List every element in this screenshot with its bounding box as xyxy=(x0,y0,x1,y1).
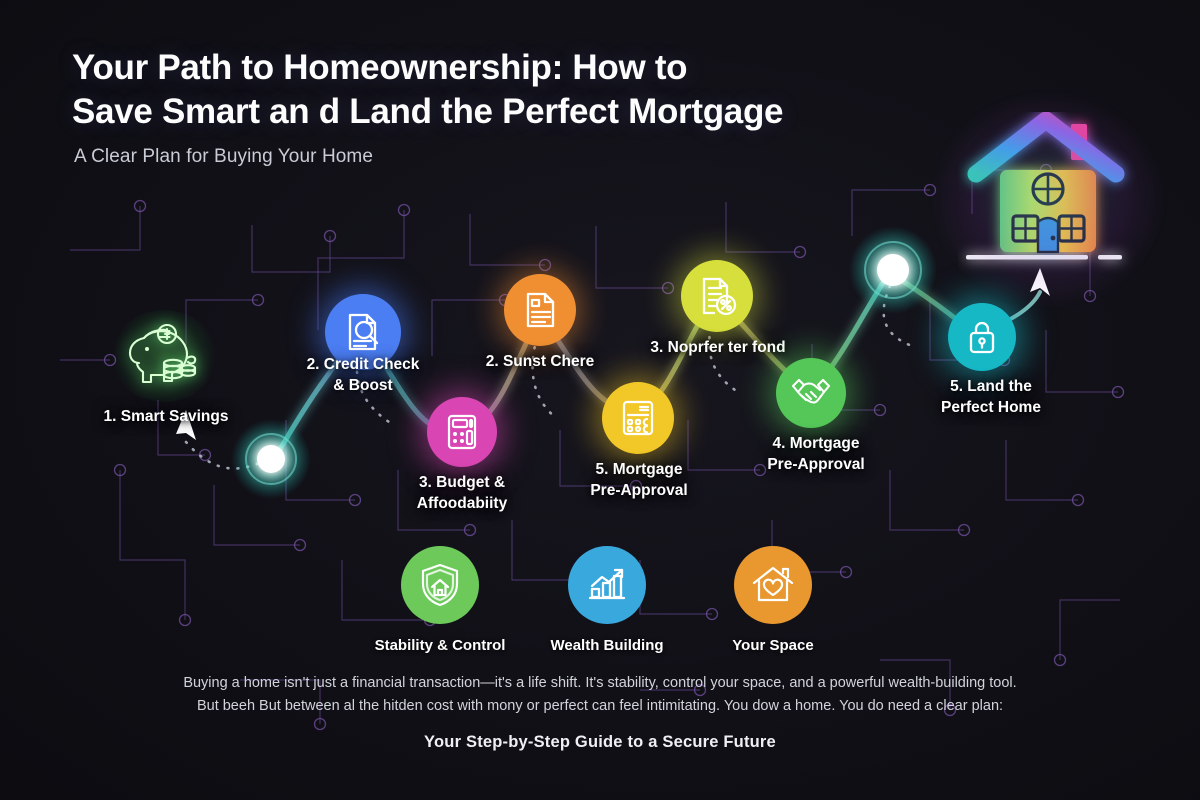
handshake-icon xyxy=(776,358,846,428)
calculator-icon xyxy=(427,397,497,467)
header-block: Your Path to Homeownership: How to Save … xyxy=(72,46,972,168)
step-label-mortgage-preapproval-4: 4. Mortgage Pre-Approval xyxy=(752,434,880,476)
benefit-label-your-space: Your Space xyxy=(707,637,839,654)
footer-paragraph-line-2: But beeh But between al the hitden cost … xyxy=(110,695,1090,718)
benefit-label-wealth-building: Wealth Building xyxy=(541,637,673,654)
step-label-credit-check: 2. Credit Check & Boost xyxy=(283,355,443,397)
benefit-stability-control[interactable]: Stability & Control xyxy=(374,546,506,654)
shield-house-icon xyxy=(401,546,479,624)
footer-tagline: Your Step-by-Step Guide to a Secure Futu… xyxy=(0,733,1200,752)
footer-paragraph-line-1: Buying a home isn't just a financial tra… xyxy=(110,672,1090,695)
step-label-land-perfect-home: 5. Land the Perfect Home xyxy=(930,377,1052,419)
step-label-smart-savings: 1. Smart Savings xyxy=(92,407,240,428)
growth-chart-icon xyxy=(568,546,646,624)
hub-node-end xyxy=(849,226,937,314)
infographic-canvas: Your Path to Homeownership: How to Save … xyxy=(0,0,1200,800)
benefit-wealth-building[interactable]: Wealth Building xyxy=(541,546,673,654)
document-percent-icon xyxy=(681,260,753,332)
footer-paragraph: Buying a home isn't just a financial tra… xyxy=(0,672,1200,719)
page-subtitle: A Clear Plan for Buying Your Home xyxy=(74,146,972,168)
piggy-bank-icon xyxy=(112,310,216,402)
rainbow-house-illustration xyxy=(958,112,1138,287)
step-label-budget-affordability: 3. Budget & Affoodabiity xyxy=(391,473,533,515)
house-heart-icon xyxy=(734,546,812,624)
step-label-sunst-chere: 2. Sunst Chere xyxy=(467,352,613,373)
hub-node-start xyxy=(231,419,311,499)
title-line-2: Save Smart an d Land the Perfect Mortgag… xyxy=(72,92,783,131)
step-label-mortgage-preapproval-5: 5. Mortgage Pre-Approval xyxy=(569,460,709,502)
benefit-your-space[interactable]: Your Space xyxy=(707,546,839,654)
document-icon xyxy=(504,274,576,346)
lock-icon xyxy=(948,303,1016,371)
benefit-label-stability-control: Stability & Control xyxy=(374,637,506,654)
title-line-1: Your Path to Homeownership: How to xyxy=(72,48,687,87)
calculator-gold-icon xyxy=(602,382,674,454)
step-label-noprferter-fond: 3. Noprfer ter fond xyxy=(642,338,794,359)
page-title: Your Path to Homeownership: How to Save … xyxy=(72,46,972,134)
house-glow xyxy=(932,92,1164,307)
